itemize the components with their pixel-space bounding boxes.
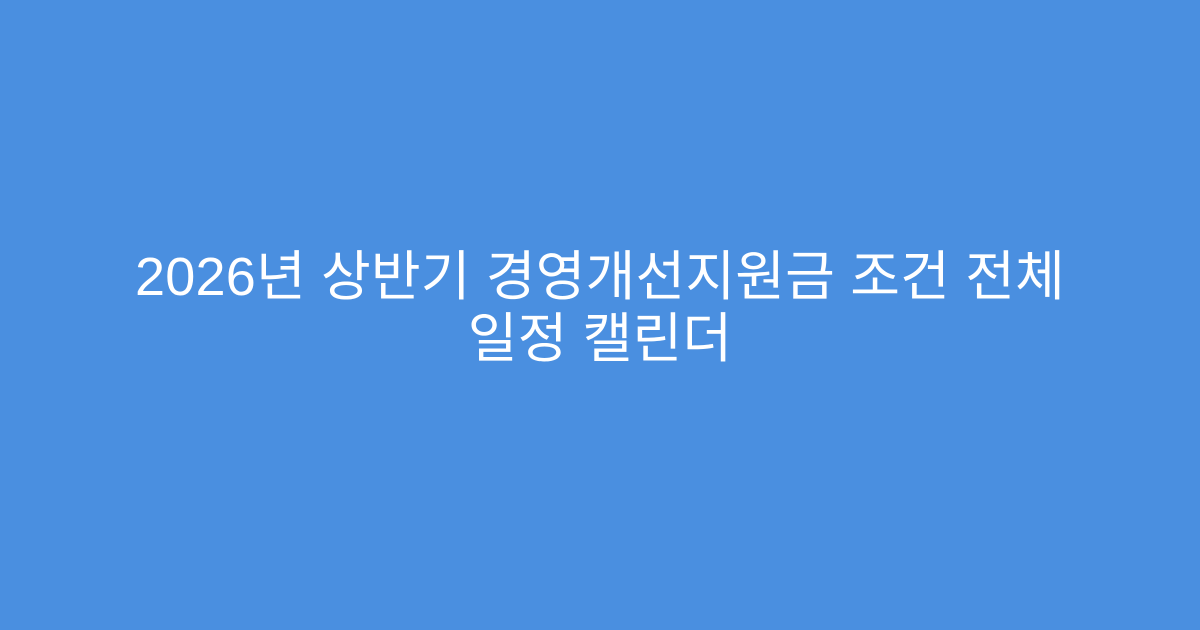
- card-content-block: 2026년 상반기 경영개선지원금 조건 전체 일정 캘린더: [80, 246, 1120, 370]
- og-share-card: 2026년 상반기 경영개선지원금 조건 전체 일정 캘린더: [0, 0, 1200, 630]
- card-title: 2026년 상반기 경영개선지원금 조건 전체 일정 캘린더: [80, 246, 1120, 370]
